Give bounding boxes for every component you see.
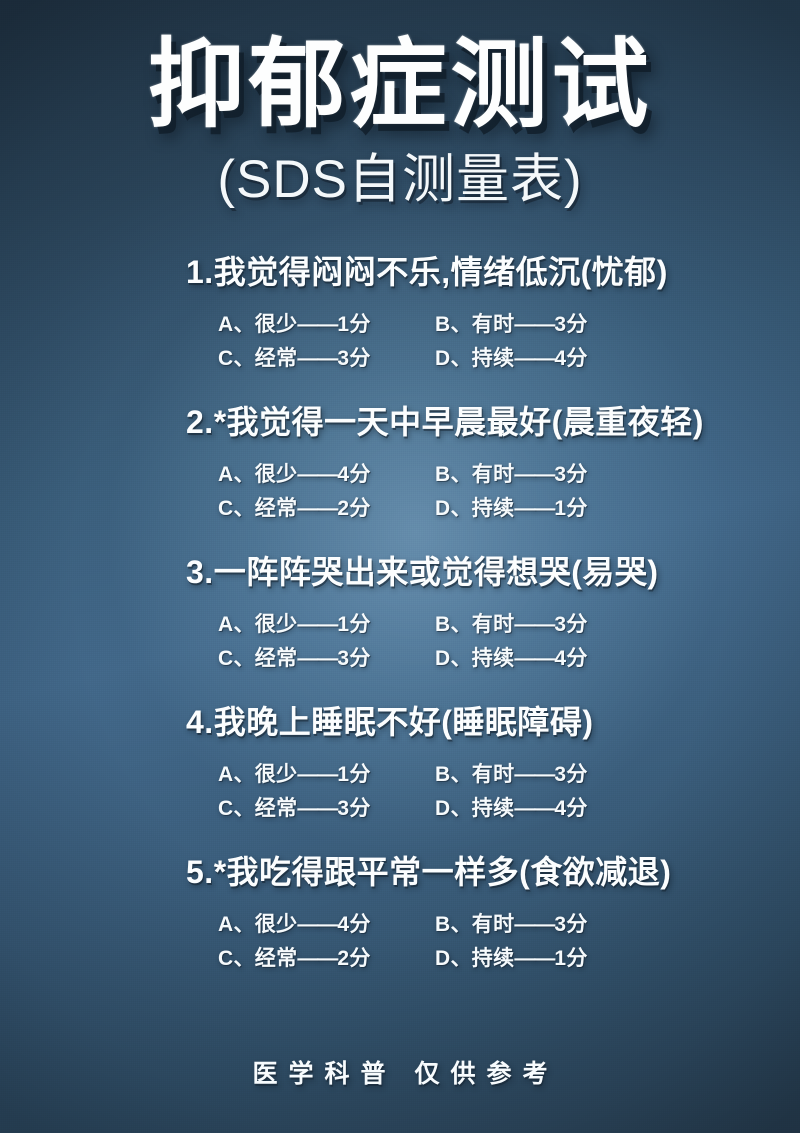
option-c[interactable]: C、经常——2分 — [218, 942, 435, 972]
option-label: 经常 — [255, 797, 298, 820]
option-letter: D、 — [435, 347, 472, 370]
question-text: 1.我觉得闷闷不乐,情绪低沉(忧郁) — [0, 253, 800, 292]
option-d[interactable]: D、持续——1分 — [435, 942, 800, 972]
option-label: 持续 — [472, 647, 515, 670]
page-title: 抑郁症测试 — [0, 34, 800, 137]
option-score: 4分 — [554, 797, 587, 820]
option-dash: —— — [514, 313, 554, 336]
option-d[interactable]: D、持续——4分 — [435, 792, 800, 822]
option-label: 持续 — [472, 947, 515, 970]
poster-footer: 医学科普 仅供参考 — [0, 1054, 800, 1090]
option-score: 3分 — [554, 913, 587, 936]
option-label: 很少 — [255, 313, 298, 336]
question-text: 4.我晚上睡眠不好(睡眠障碍) — [0, 703, 800, 742]
option-score: 3分 — [554, 313, 587, 336]
option-b[interactable]: B、有时——3分 — [435, 608, 800, 638]
footer-disclaimer: 医学科普 仅供参考 — [242, 1054, 559, 1090]
option-score: 1分 — [337, 313, 370, 336]
option-letter: C、 — [218, 647, 255, 670]
option-letter: B、 — [435, 313, 472, 336]
option-label: 有时 — [472, 613, 515, 636]
question-block: 4.我晚上睡眠不好(睡眠障碍) A、很少——1分 B、有时——3分 C、经常——… — [0, 703, 800, 853]
option-a[interactable]: A、很少——1分 — [218, 758, 435, 788]
option-c[interactable]: C、经常——2分 — [218, 492, 435, 522]
question-list: 1.我觉得闷闷不乐,情绪低沉(忧郁) A、很少——1分 B、有时——3分 C、经… — [0, 253, 800, 1003]
option-grid: A、很少——1分 B、有时——3分 C、经常——3分 D、持续——4分 — [0, 606, 800, 674]
option-b[interactable]: B、有时——3分 — [435, 308, 800, 338]
option-score: 4分 — [554, 347, 587, 370]
option-dash: —— — [514, 947, 554, 970]
option-b[interactable]: B、有时——3分 — [435, 458, 800, 488]
option-dash: —— — [297, 463, 337, 486]
option-grid: A、很少——1分 B、有时——3分 C、经常——3分 D、持续——4分 — [0, 306, 800, 374]
option-label: 有时 — [472, 463, 515, 486]
option-letter: C、 — [218, 347, 255, 370]
option-d[interactable]: D、持续——4分 — [435, 642, 800, 672]
option-a[interactable]: A、很少——4分 — [218, 908, 435, 938]
option-letter: C、 — [218, 947, 255, 970]
question-text: 2.*我觉得一天中早晨最好(晨重夜轻) — [0, 403, 800, 442]
option-label: 持续 — [472, 797, 515, 820]
option-dash: —— — [514, 797, 554, 820]
option-label: 很少 — [255, 913, 298, 936]
option-grid: A、很少——1分 B、有时——3分 C、经常——3分 D、持续——4分 — [0, 756, 800, 824]
option-score: 1分 — [554, 947, 587, 970]
option-label: 有时 — [472, 313, 515, 336]
option-dash: —— — [297, 647, 337, 670]
poster-header: 抑郁症测试 (SDS自测量表) — [0, 0, 800, 209]
option-label: 有时 — [472, 913, 515, 936]
option-letter: A、 — [218, 313, 255, 336]
option-letter: B、 — [435, 613, 472, 636]
option-letter: D、 — [435, 947, 472, 970]
option-score: 3分 — [554, 613, 587, 636]
poster-content: 抑郁症测试 (SDS自测量表) 1.我觉得闷闷不乐,情绪低沉(忧郁) A、很少—… — [0, 0, 800, 1133]
option-dash: —— — [514, 613, 554, 636]
option-a[interactable]: A、很少——1分 — [218, 608, 435, 638]
option-score: 3分 — [337, 347, 370, 370]
option-dash: —— — [297, 947, 337, 970]
option-grid: A、很少——4分 B、有时——3分 C、经常——2分 D、持续——1分 — [0, 456, 800, 524]
option-label: 经常 — [255, 347, 298, 370]
option-dash: —— — [297, 613, 337, 636]
option-label: 很少 — [255, 463, 298, 486]
option-letter: C、 — [218, 797, 255, 820]
option-dash: —— — [514, 463, 554, 486]
option-dash: —— — [297, 913, 337, 936]
option-a[interactable]: A、很少——4分 — [218, 458, 435, 488]
option-label: 很少 — [255, 763, 298, 786]
page-subtitle: (SDS自测量表) — [0, 151, 800, 209]
option-label: 很少 — [255, 613, 298, 636]
option-grid: A、很少——4分 B、有时——3分 C、经常——2分 D、持续——1分 — [0, 906, 800, 974]
option-dash: —— — [514, 913, 554, 936]
option-letter: B、 — [435, 913, 472, 936]
option-letter: A、 — [218, 463, 255, 486]
question-block: 3.一阵阵哭出来或觉得想哭(易哭) A、很少——1分 B、有时——3分 C、经常… — [0, 553, 800, 703]
option-dash: —— — [514, 647, 554, 670]
option-dash: —— — [297, 797, 337, 820]
question-text: 5.*我吃得跟平常一样多(食欲减退) — [0, 853, 800, 892]
option-c[interactable]: C、经常——3分 — [218, 792, 435, 822]
option-c[interactable]: C、经常——3分 — [218, 342, 435, 372]
question-block: 2.*我觉得一天中早晨最好(晨重夜轻) A、很少——4分 B、有时——3分 C、… — [0, 403, 800, 553]
option-score: 2分 — [337, 497, 370, 520]
option-letter: A、 — [218, 913, 255, 936]
option-dash: —— — [297, 313, 337, 336]
question-block: 1.我觉得闷闷不乐,情绪低沉(忧郁) A、很少——1分 B、有时——3分 C、经… — [0, 253, 800, 403]
option-dash: —— — [514, 763, 554, 786]
option-score: 3分 — [337, 797, 370, 820]
option-letter: D、 — [435, 797, 472, 820]
option-score: 2分 — [337, 947, 370, 970]
option-letter: A、 — [218, 763, 255, 786]
option-label: 有时 — [472, 763, 515, 786]
question-block: 5.*我吃得跟平常一样多(食欲减退) A、很少——4分 B、有时——3分 C、经… — [0, 853, 800, 1003]
option-score: 1分 — [337, 613, 370, 636]
option-score: 4分 — [554, 647, 587, 670]
option-score: 1分 — [337, 763, 370, 786]
option-score: 4分 — [337, 913, 370, 936]
option-b[interactable]: B、有时——3分 — [435, 908, 800, 938]
option-letter: C、 — [218, 497, 255, 520]
option-d[interactable]: D、持续——4分 — [435, 342, 800, 372]
option-a[interactable]: A、很少——1分 — [218, 308, 435, 338]
option-label: 经常 — [255, 497, 298, 520]
option-score: 3分 — [554, 463, 587, 486]
option-letter: B、 — [435, 463, 472, 486]
option-dash: —— — [514, 347, 554, 370]
option-letter: D、 — [435, 497, 472, 520]
option-letter: D、 — [435, 647, 472, 670]
option-score: 4分 — [337, 463, 370, 486]
option-dash: —— — [297, 497, 337, 520]
question-text: 3.一阵阵哭出来或觉得想哭(易哭) — [0, 553, 800, 592]
option-b[interactable]: B、有时——3分 — [435, 758, 800, 788]
option-letter: B、 — [435, 763, 472, 786]
option-letter: A、 — [218, 613, 255, 636]
option-label: 经常 — [255, 947, 298, 970]
option-c[interactable]: C、经常——3分 — [218, 642, 435, 672]
option-score: 1分 — [554, 497, 587, 520]
option-dash: —— — [297, 347, 337, 370]
option-score: 3分 — [554, 763, 587, 786]
option-d[interactable]: D、持续——1分 — [435, 492, 800, 522]
option-label: 持续 — [472, 347, 515, 370]
option-dash: —— — [297, 763, 337, 786]
option-label: 经常 — [255, 647, 298, 670]
option-dash: —— — [514, 497, 554, 520]
option-score: 3分 — [337, 647, 370, 670]
option-label: 持续 — [472, 497, 515, 520]
poster-canvas: 抑郁症测试 (SDS自测量表) 1.我觉得闷闷不乐,情绪低沉(忧郁) A、很少—… — [0, 0, 800, 1133]
